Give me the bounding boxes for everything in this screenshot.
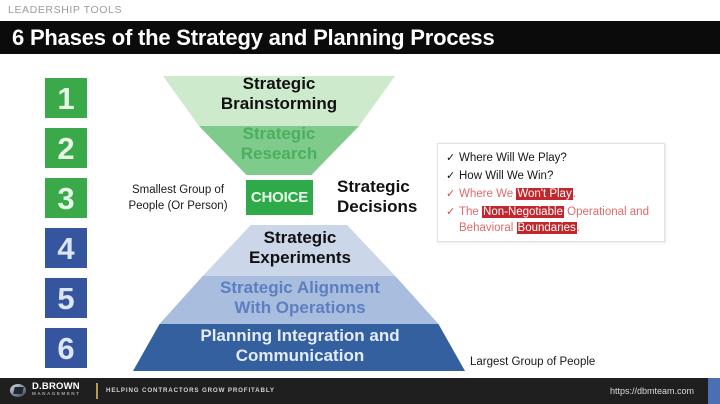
label-line-2: Brainstorming bbox=[163, 94, 395, 114]
strategic-decisions-checklist: ✓ Where Will We Play? ✓ How Will We Win?… bbox=[437, 143, 665, 242]
check-icon: ✓ bbox=[446, 151, 459, 166]
phase-number-4: 4 bbox=[45, 228, 87, 268]
largest-group-caption: Largest Group of People bbox=[470, 356, 595, 368]
label-line-1: Strategic Alignment bbox=[160, 278, 440, 298]
footer-divider bbox=[96, 383, 98, 399]
slide-canvas: LEADERSHIP TOOLS 6 Phases of the Strateg… bbox=[0, 0, 720, 404]
label-strategic-alignment: Strategic Alignment With Operations bbox=[160, 278, 440, 317]
highlighted-text: Won't Play bbox=[516, 188, 572, 200]
checklist-item-label: The Non-Negotiable Operational and Behav… bbox=[459, 205, 659, 236]
title-bar: 6 Phases of the Strategy and Planning Pr… bbox=[0, 21, 720, 54]
phase-number-3: 3 bbox=[45, 178, 87, 218]
label-line-1: Planning Integration and bbox=[150, 326, 450, 346]
choice-box: CHOICE bbox=[246, 180, 313, 215]
smallest-group-caption: Smallest Group of People (Or Person) bbox=[112, 183, 244, 214]
footer-accent-block bbox=[708, 378, 720, 404]
logo-book bbox=[13, 387, 23, 394]
footer-bar: D.BROWN MANAGEMENT HELPING CONTRACTORS G… bbox=[0, 378, 720, 404]
text-prefix: The bbox=[459, 206, 482, 218]
label-line-1: Strategic bbox=[163, 124, 395, 144]
label-line-2: With Operations bbox=[160, 298, 440, 318]
brand-tagline: HELPING CONTRACTORS GROW PROFITABLY bbox=[106, 387, 275, 394]
phase-number-1: 1 bbox=[45, 78, 87, 118]
checklist-item: ✓ How Will We Win? bbox=[446, 169, 553, 184]
checklist-item-label: Where Will We Play? bbox=[459, 151, 567, 166]
label-strategic-research: Strategic Research bbox=[163, 124, 395, 163]
check-icon: ✓ bbox=[446, 187, 459, 202]
check-icon: ✓ bbox=[446, 205, 459, 220]
checklist-item-label: How Will We Win? bbox=[459, 169, 553, 184]
text-prefix: Where We bbox=[459, 188, 516, 200]
text-suffix: . bbox=[577, 222, 580, 234]
label-strategic-brainstorming: Strategic Brainstorming bbox=[163, 74, 395, 113]
label-line-2: Experiments bbox=[175, 248, 425, 268]
website-url[interactable]: https://dbmteam.com bbox=[610, 386, 694, 396]
label-line-2: Communication bbox=[150, 346, 450, 366]
brand-subtitle: MANAGEMENT bbox=[32, 392, 80, 397]
caption-line-1: Smallest Group of bbox=[112, 183, 244, 199]
checklist-item-label: Where We Won't Play. bbox=[459, 187, 576, 202]
checklist-item: ✓ The Non-Negotiable Operational and Beh… bbox=[446, 205, 659, 236]
label-line-2: Research bbox=[163, 144, 395, 164]
phase-number-5: 5 bbox=[45, 278, 87, 318]
page-title: 6 Phases of the Strategy and Planning Pr… bbox=[12, 25, 495, 51]
checklist-item: ✓ Where We Won't Play. bbox=[446, 187, 576, 202]
label-strategic-experiments: Strategic Experiments bbox=[175, 228, 425, 267]
highlighted-text: Non-Negotiable bbox=[482, 206, 564, 218]
label-line-1: Strategic bbox=[163, 74, 395, 94]
phase-number-2: 2 bbox=[45, 128, 87, 168]
label-line-1: Strategic bbox=[175, 228, 425, 248]
highlighted-text-2: Boundaries bbox=[517, 222, 577, 234]
label-planning-integration: Planning Integration and Communication bbox=[150, 326, 450, 365]
dbrown-logo-icon bbox=[10, 383, 27, 399]
check-icon: ✓ bbox=[446, 169, 459, 184]
text-suffix: . bbox=[573, 188, 576, 200]
checklist-item: ✓ Where Will We Play? bbox=[446, 151, 567, 166]
eyebrow-label: LEADERSHIP TOOLS bbox=[8, 4, 122, 16]
caption-line-2: People (Or Person) bbox=[112, 199, 244, 215]
phase-number-6: 6 bbox=[45, 328, 87, 368]
